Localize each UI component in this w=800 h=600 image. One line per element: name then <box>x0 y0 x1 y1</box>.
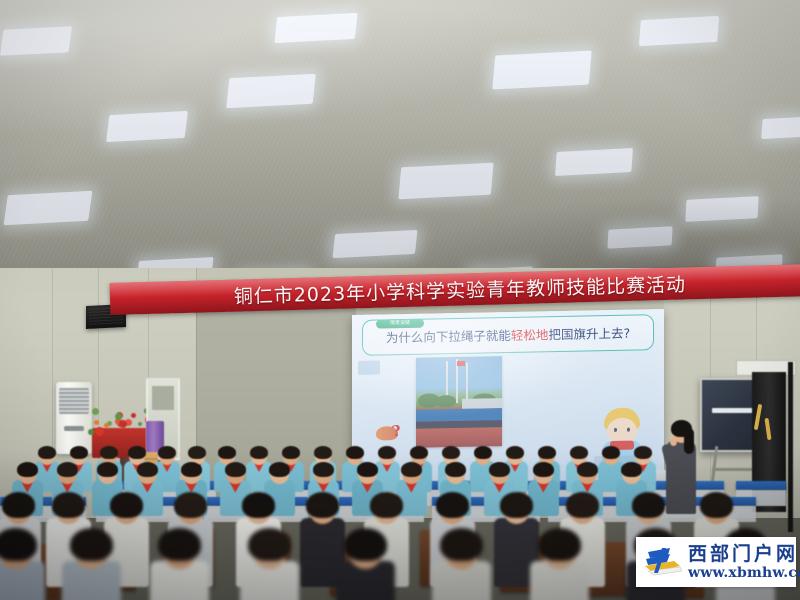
floor-air-conditioner <box>56 382 92 454</box>
flower-14 <box>94 420 99 425</box>
student-hair <box>442 446 460 459</box>
student-hair <box>137 462 158 477</box>
student-hair <box>538 446 556 459</box>
student-hair <box>181 462 202 477</box>
student-hair <box>314 446 332 459</box>
observer-hair <box>110 492 143 518</box>
observer-r2-3 <box>150 528 209 600</box>
observer-hair <box>370 492 403 518</box>
slide-title-part2: 把国旗升上去? <box>548 326 630 343</box>
observer-hair <box>538 528 581 561</box>
observer-hair <box>344 528 387 561</box>
observer-r2-5 <box>336 528 395 600</box>
teacher-hand <box>670 438 677 446</box>
student-hair <box>489 462 510 477</box>
observer-hair <box>440 528 483 561</box>
student-hair <box>17 462 38 477</box>
cartoon-kid-eye-left <box>614 428 617 432</box>
flower-6 <box>104 423 109 428</box>
flower-15 <box>119 420 127 428</box>
national-flag <box>457 361 465 366</box>
presentation-board-strip <box>712 408 754 413</box>
observer-hair <box>566 492 599 518</box>
ceiling <box>0 0 800 300</box>
flower-8 <box>138 422 142 426</box>
site-watermark: 西部门户网 www.xbmhw.com <box>636 537 796 587</box>
watermark-text: 西部门户网 www.xbmhw.com <box>686 544 800 581</box>
observer-r2-1 <box>0 528 45 600</box>
flower-13 <box>92 408 99 415</box>
student-hair <box>410 446 428 459</box>
slide-title-highlight: 轻松地 <box>511 327 549 343</box>
student-hair <box>401 462 422 477</box>
student-hair <box>225 462 246 477</box>
cartoon-kid-eye-right <box>627 428 630 432</box>
observer-r2-2 <box>62 528 121 600</box>
flower-7 <box>131 413 136 418</box>
student-hair <box>38 446 56 459</box>
observer-hair <box>632 492 665 518</box>
student-hair <box>57 462 78 477</box>
student-hair <box>357 462 378 477</box>
student-hair <box>634 446 652 459</box>
slide-title-part1: 为什么向下拉绳子就能 <box>386 328 511 345</box>
student-hair <box>621 462 642 477</box>
flagpole-3 <box>466 363 468 403</box>
student-hair <box>97 462 118 477</box>
student-row-back <box>416 420 502 429</box>
observer-r2-4 <box>240 528 299 600</box>
ceiling-shading <box>0 0 800 300</box>
student-hair <box>570 446 588 459</box>
student-hair <box>474 446 492 459</box>
student-hair <box>250 446 268 459</box>
student-hair <box>445 462 466 477</box>
student-hair <box>533 462 554 477</box>
observer-hair <box>700 492 733 518</box>
student-hair <box>128 446 146 459</box>
student-hair <box>378 446 396 459</box>
slide-thumbnail-placeholder <box>358 360 380 374</box>
planter-flowers <box>88 408 154 434</box>
observer-hair <box>306 492 339 518</box>
doorway-interior <box>152 386 174 410</box>
observer-hair <box>0 528 37 561</box>
watermark-logo-icon <box>640 542 686 582</box>
student-hair <box>269 462 290 477</box>
student-hair <box>282 446 300 459</box>
observer-r2-7 <box>530 528 589 600</box>
observer-hair <box>70 528 113 561</box>
air-conditioner-badge <box>64 426 84 431</box>
watermark-site-name: 西部门户网 <box>688 544 800 565</box>
student-hair <box>218 446 236 459</box>
student-hair <box>158 446 176 459</box>
observer-hair <box>52 492 85 518</box>
student-hair <box>100 446 118 459</box>
student-hair <box>346 446 364 459</box>
student-hair <box>188 446 206 459</box>
teacher-hair-back <box>684 428 694 454</box>
observer-hair <box>242 492 275 518</box>
observer-hair <box>2 492 35 518</box>
student-hair <box>602 446 620 459</box>
student-hair <box>313 462 334 477</box>
student-hair <box>70 446 88 459</box>
flower-12 <box>95 427 104 436</box>
observer-hair <box>248 528 291 561</box>
observer-hair <box>158 528 201 561</box>
student-hair <box>506 446 524 459</box>
observer-hair <box>436 492 469 518</box>
student-hair <box>577 462 598 477</box>
watermark-url: www.xbmhw.com <box>688 565 800 581</box>
observer-hair <box>500 492 533 518</box>
slide-question-mark: ? <box>391 422 402 441</box>
slide-flag-ceremony-photo <box>416 356 502 448</box>
student-desk-r1-7 <box>736 481 786 490</box>
observer-hair <box>174 492 207 518</box>
air-conditioner-vent <box>59 388 89 414</box>
rack-pole <box>788 362 793 532</box>
tree-2 <box>436 395 456 407</box>
photo-scene: 情景设疑 为什么向下拉绳子就能轻松地把国旗升上去? ? <box>0 0 800 600</box>
observer-r2-6 <box>432 528 491 600</box>
